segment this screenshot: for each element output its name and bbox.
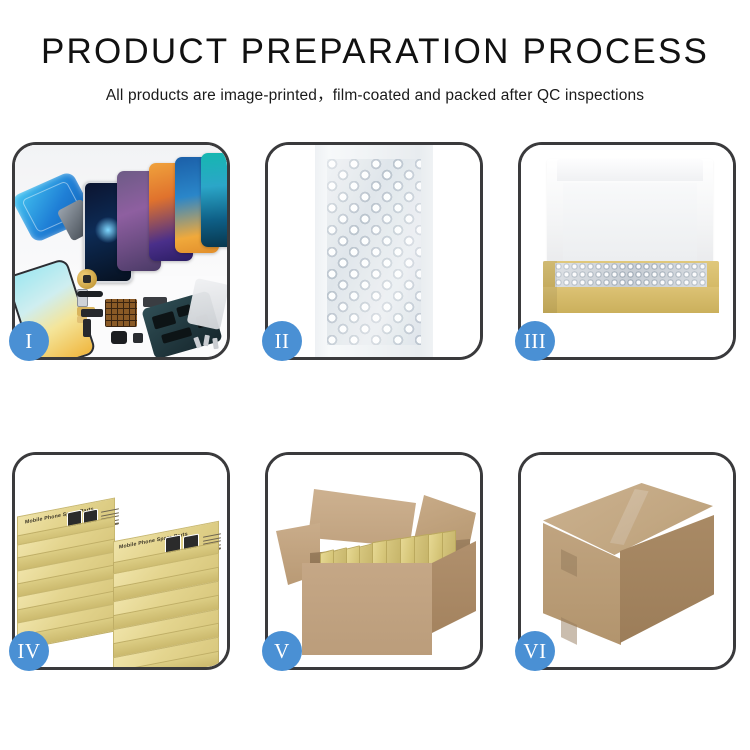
bubble-wrap-fill-icon <box>555 263 707 289</box>
page-subtitle: All products are image-printed，film-coat… <box>0 83 750 105</box>
bubble-wrap-pouch-icon <box>315 145 433 357</box>
step-image-2 <box>268 145 480 357</box>
carton-body <box>302 563 432 655</box>
step-image-6 <box>521 455 733 667</box>
step-image-1 <box>15 145 227 357</box>
step-badge-4: IV <box>9 631 49 671</box>
product-preparation-infographic: PRODUCT PREPARATION PROCESS All products… <box>0 0 750 750</box>
phone-screen-fan <box>83 153 227 283</box>
header: PRODUCT PREPARATION PROCESS All products… <box>0 0 750 105</box>
steps-grid: I II <box>12 142 738 670</box>
box-lid-icon <box>547 159 713 267</box>
step-panel-1: I <box>12 142 230 360</box>
step-badge-6: VI <box>515 631 555 671</box>
repair-tool-icon <box>187 278 227 330</box>
step-badge-1: I <box>9 321 49 361</box>
step-panel-2: II <box>265 142 483 360</box>
step-panel-5: V <box>265 452 483 670</box>
step-image-5 <box>268 455 480 667</box>
retail-box-stack: Mobile Phone Spare Parts <box>15 477 227 667</box>
step-panel-4: Mobile Phone Spare Parts <box>12 452 230 670</box>
step-panel-6: VI <box>518 452 736 670</box>
page-title: PRODUCT PREPARATION PROCESS <box>0 34 750 71</box>
step-badge-3: III <box>515 321 555 361</box>
step-badge-2: II <box>262 321 302 361</box>
step-badge-5: V <box>262 631 302 671</box>
step-panel-3: III <box>518 142 736 360</box>
step-image-3 <box>521 145 733 357</box>
step-image-4: Mobile Phone Spare Parts <box>15 455 227 667</box>
screws-icon <box>195 335 221 349</box>
